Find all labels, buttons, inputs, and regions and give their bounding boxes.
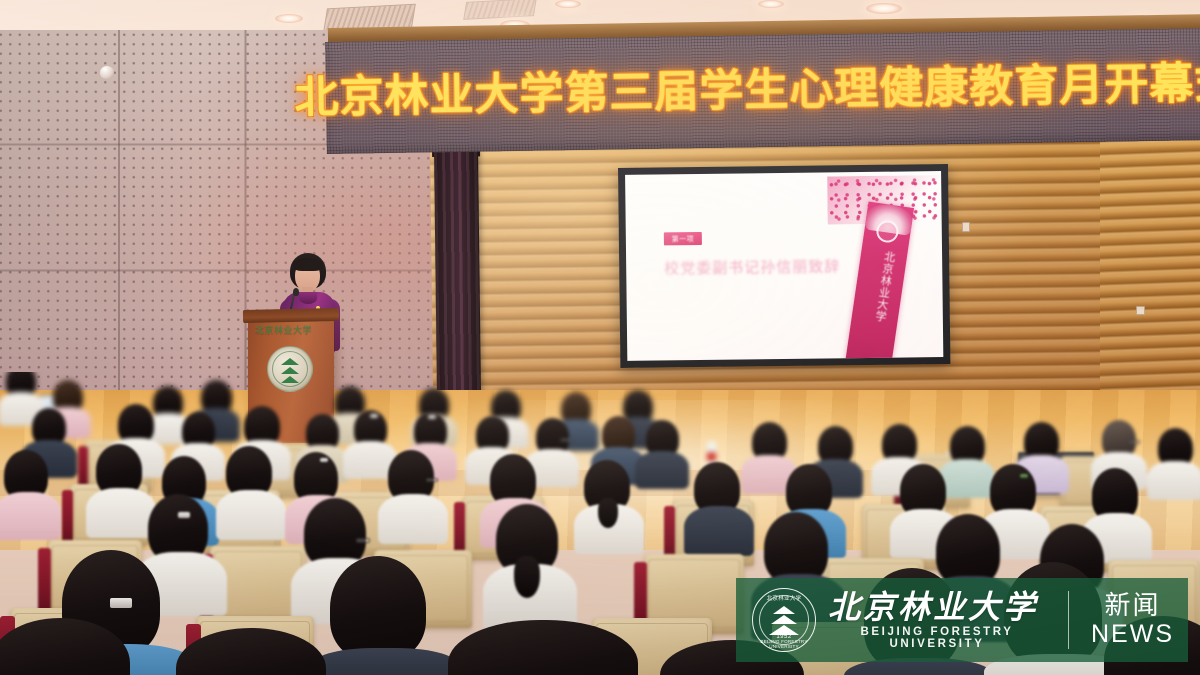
audience-person	[222, 446, 280, 536]
seal-chevron-icon	[773, 606, 795, 614]
led-banner-panel: 北京林业大学第三届学生心理健康教育月开幕式	[325, 28, 1200, 154]
hair-clip-icon	[428, 415, 436, 419]
curtain-pleats	[434, 149, 481, 395]
eyeglasses-icon	[426, 478, 438, 482]
watermark-news-cn: 新闻	[1104, 593, 1160, 620]
seal-arc-top-text: 北京林业大学	[753, 594, 815, 602]
projection-screen: 北京林业大学 第一项 校党委副书记孙信丽致辞	[618, 164, 950, 368]
scroll-seal-icon	[875, 219, 900, 244]
hair-clip-icon	[178, 512, 190, 518]
audience-person	[448, 620, 648, 675]
hair-clip-icon	[320, 458, 328, 462]
ceiling-downlight	[555, 0, 581, 8]
audience-person	[492, 504, 568, 626]
audience-person	[1152, 428, 1198, 496]
ceiling-downlight	[758, 0, 784, 8]
watermark-news-section: 新闻 NEWS	[1091, 593, 1174, 646]
seal-chevron-icon	[281, 358, 299, 365]
hair-clip-icon	[1020, 474, 1028, 478]
seal-arc-bottom-text: BEIJING FORESTRY UNIVERSITY	[753, 639, 815, 649]
presenter-fringe	[293, 258, 323, 271]
university-seal-logo-icon: 北京林业大学 1952 BEIJING FORESTRY UNIVERSITY	[752, 588, 816, 652]
slide-badge: 第一项	[664, 232, 702, 245]
news-watermark: 北京林业大学 1952 BEIJING FORESTRY UNIVERSITY …	[736, 578, 1188, 662]
eyeglasses-icon	[356, 538, 370, 543]
led-banner-text: 北京林业大学第三届学生心理健康教育月开幕式	[325, 28, 1200, 154]
audience-person	[640, 420, 684, 486]
podium-top-surface	[243, 308, 339, 323]
slide-badge-label: 第一项	[672, 234, 695, 244]
scroll-cap	[865, 202, 915, 236]
microphone-icon	[293, 288, 299, 296]
eyeglasses-icon	[560, 438, 572, 442]
wall-outlet-plate-icon	[962, 222, 970, 232]
ponytail	[598, 498, 618, 528]
stage-curtain	[434, 149, 481, 395]
audience-person	[690, 462, 748, 552]
watermark-divider	[1068, 591, 1069, 649]
security-camera-icon	[100, 66, 114, 79]
wall-outlet-plate-icon	[1136, 306, 1145, 315]
watermark-university-names: 北京林业大学 BEIJING FORESTRY UNIVERSITY	[828, 591, 1046, 650]
presenter-collar	[299, 292, 317, 304]
watermark-news-en: NEWS	[1091, 622, 1174, 647]
slide-photo: 北京林业大学	[827, 175, 943, 361]
watermark-university-en: BEIJING FORESTRY UNIVERSITY	[828, 626, 1046, 650]
hair-clip-icon	[370, 414, 378, 418]
ponytail	[514, 556, 540, 598]
audience-person	[326, 556, 444, 675]
audience-person	[0, 450, 56, 536]
podium-institution-text: 北京林业大学	[255, 323, 312, 336]
watermark-university-cn: 北京林业大学	[828, 591, 1046, 623]
audience-person	[384, 450, 442, 540]
hair-clip-icon	[110, 598, 132, 608]
seal-chevron-icon	[771, 615, 797, 624]
scroll-text: 北京林业大学	[862, 249, 896, 324]
eyeglasses-icon	[1128, 440, 1140, 444]
ceiling-downlight	[866, 3, 902, 14]
slide-banner-scroll: 北京林业大学	[841, 202, 914, 361]
ceiling-downlight	[275, 14, 303, 23]
slide-heading: 校党委副书记孙信丽致辞	[664, 255, 840, 278]
auditorium-photo: 北京林业大学第三届学生心理健康教育月开幕式 北京林业大学 第一项 校党委副书记孙…	[0, 0, 1200, 675]
seat-armrest	[62, 490, 73, 546]
audience-person	[580, 460, 638, 550]
projection-screen-surface: 北京林业大学 第一项 校党委副书记孙信丽致辞	[625, 171, 943, 361]
audience-person	[0, 618, 140, 675]
audience-person	[176, 628, 336, 675]
audience-person	[92, 444, 150, 534]
